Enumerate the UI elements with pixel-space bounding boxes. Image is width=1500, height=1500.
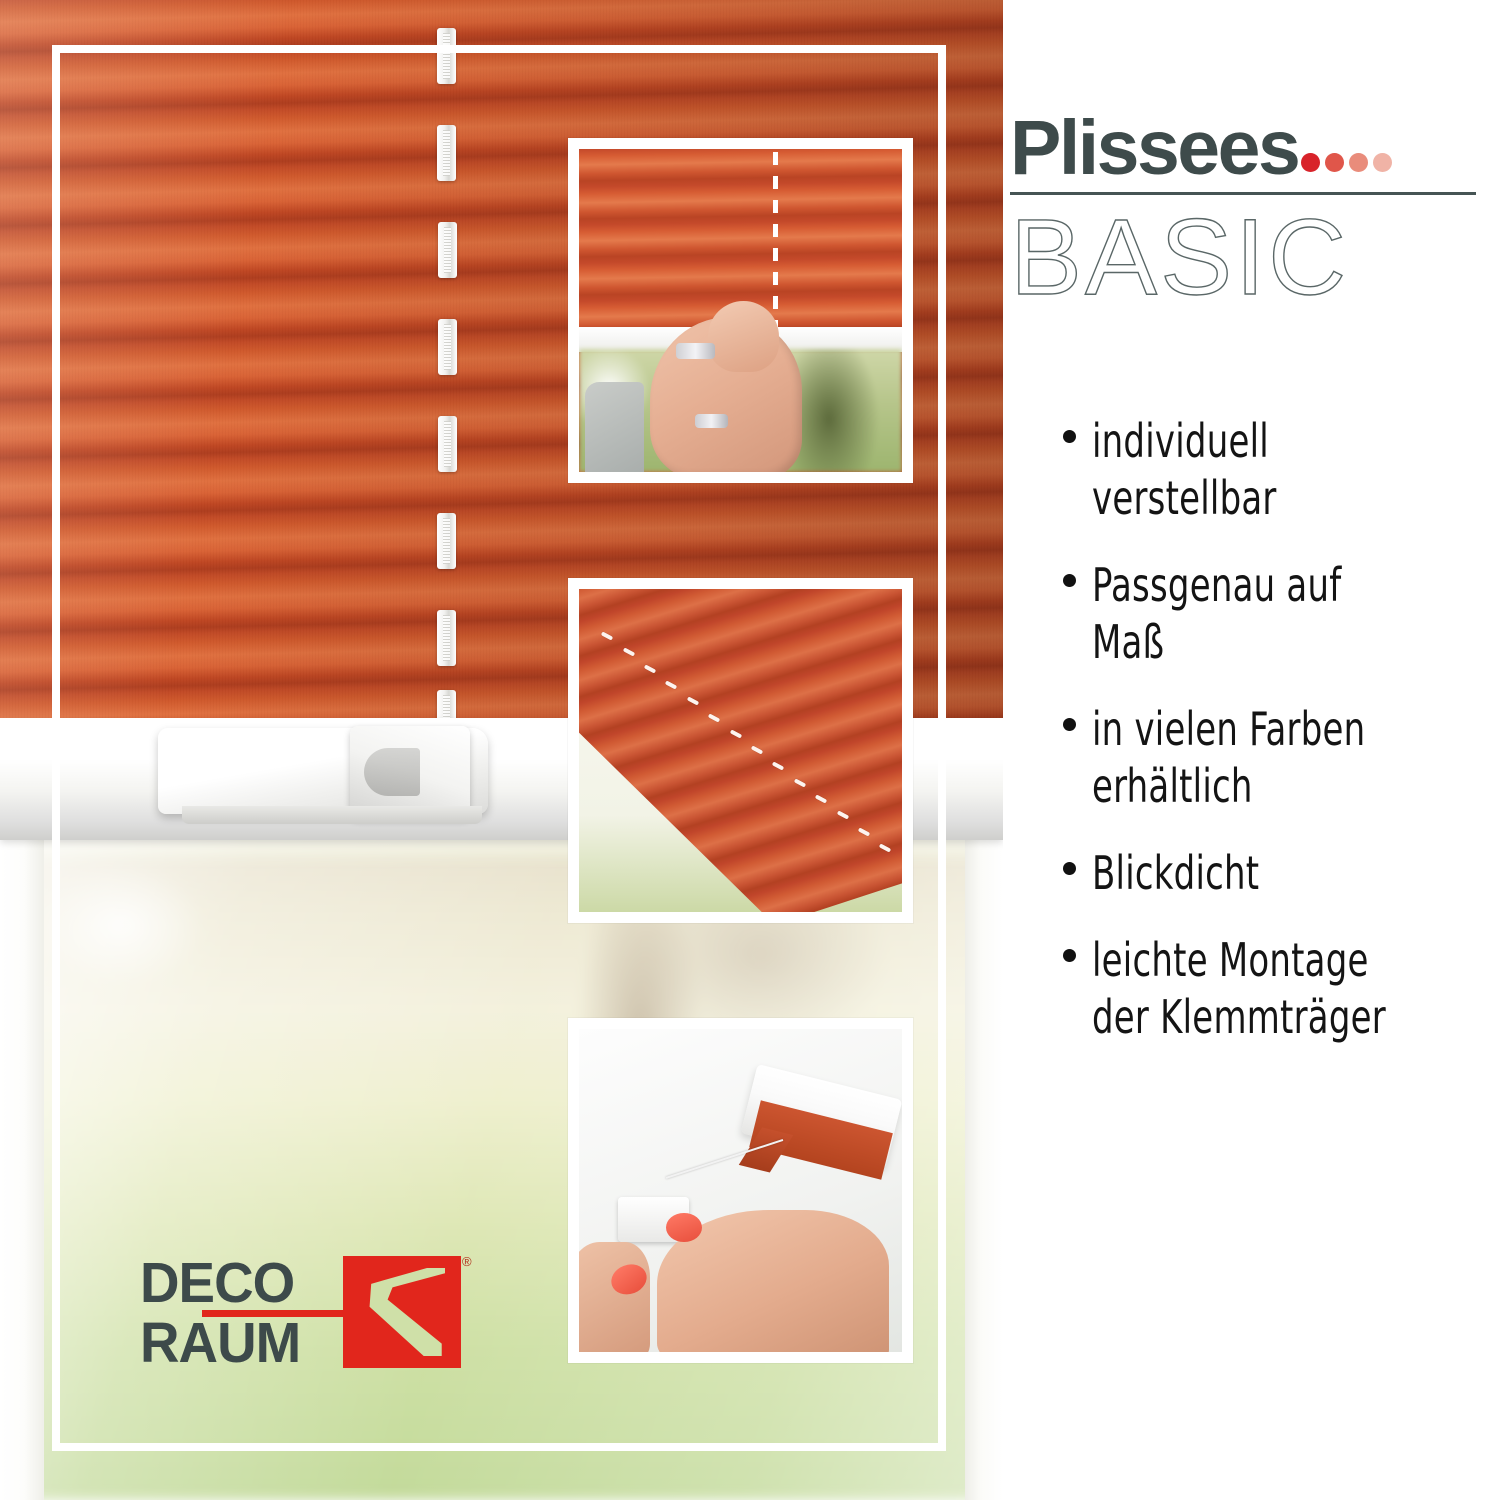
inset1-dashed-guide <box>773 152 778 326</box>
feature-item: Blickdicht <box>1063 845 1493 902</box>
brand-dot-4 <box>1373 153 1392 172</box>
brand-block: Plissees BASIC <box>1010 108 1490 313</box>
perforation-mark <box>708 713 720 722</box>
logo-red-bar <box>202 1310 354 1317</box>
bullet-dot-icon <box>1063 949 1076 962</box>
logo-line-2: RAUM <box>140 1314 300 1372</box>
window-frame-left <box>0 838 44 1500</box>
perforation-mark <box>772 762 784 771</box>
bullet-dot-icon <box>1063 718 1076 731</box>
inset-photo-bracket-install <box>568 1018 913 1363</box>
feature-label: leichte Montage der Klemmträger <box>1092 932 1421 1046</box>
blind-clip-icon <box>437 125 456 181</box>
feature-item: in vielen Farben erhältlich <box>1063 701 1493 815</box>
blind-clip-icon <box>438 222 457 278</box>
perforation-mark <box>644 664 656 673</box>
perforation-mark <box>665 680 677 689</box>
inset2-perforations <box>592 621 902 879</box>
inset3-left-hand <box>568 1242 650 1358</box>
inset-photo-pleat-detail <box>568 578 913 923</box>
blind-clip-icon <box>437 513 456 569</box>
perforation-mark <box>858 827 870 836</box>
bullet-dot-icon <box>1063 574 1076 587</box>
bullet-dot-icon <box>1063 862 1076 875</box>
logo-mark-icon <box>343 1256 461 1368</box>
perforation-mark <box>622 648 634 657</box>
brand-dot-3 <box>1349 153 1368 172</box>
blind-clip-icon <box>438 416 457 472</box>
blind-clip-icon <box>438 319 457 375</box>
feature-item: Passgenau auf Maß <box>1063 557 1493 671</box>
product-photo: DECO RAUM ® <box>0 0 1003 1500</box>
feature-item: individuell verstellbar <box>1063 413 1493 527</box>
brand-dots-icon <box>1301 153 1392 172</box>
feature-label: in vielen Farben erhältlich <box>1092 701 1421 815</box>
brand-title-row: Plissees <box>1010 108 1490 188</box>
bullet-dot-icon <box>1063 430 1076 443</box>
brand-dot-2 <box>1325 153 1344 172</box>
blind-clip-icon <box>437 28 456 84</box>
blind-clip-icon <box>437 610 456 666</box>
perforation-mark <box>751 746 763 755</box>
brand-dot-1 <box>1301 153 1320 172</box>
registered-trademark-icon: ® <box>462 1254 472 1269</box>
inset1-sleeve <box>585 382 643 472</box>
brand-subtitle: BASIC <box>1010 201 1490 313</box>
perforation-mark <box>815 794 827 803</box>
inset1-ring-2 <box>695 414 727 429</box>
info-panel: Plissees BASIC individuell verstellbarPa… <box>1003 0 1500 1500</box>
perforation-mark <box>794 778 806 787</box>
feature-list: individuell verstellbarPassgenau auf Maß… <box>1063 413 1493 1076</box>
perforation-mark <box>729 729 741 738</box>
inset1-thumb <box>708 301 779 372</box>
bracket-lip <box>182 806 482 824</box>
page-title: Plissees <box>1010 108 1298 188</box>
bracket-hook <box>350 726 470 818</box>
promo-banner: DECO RAUM ® Plissees BASIC individuell v… <box>0 0 1500 1500</box>
perforation-mark <box>836 811 848 820</box>
inset1-ring <box>676 343 715 359</box>
feature-label: individuell verstellbar <box>1092 413 1421 527</box>
feature-item: leichte Montage der Klemmträger <box>1063 932 1493 1046</box>
window-frame-right <box>965 838 1003 1500</box>
inset-photo-hand-adjusting <box>568 138 913 483</box>
feature-label: Passgenau auf Maß <box>1092 557 1421 671</box>
decoraum-logo: DECO RAUM ® <box>140 1252 462 1374</box>
perforation-mark <box>879 843 891 852</box>
logo-line-1: DECO <box>140 1254 294 1312</box>
inset3-fingernail <box>666 1213 702 1242</box>
perforation-mark <box>601 632 613 641</box>
perforation-mark <box>687 697 699 706</box>
brand-divider <box>1010 192 1476 195</box>
feature-label: Blickdicht <box>1092 845 1421 902</box>
